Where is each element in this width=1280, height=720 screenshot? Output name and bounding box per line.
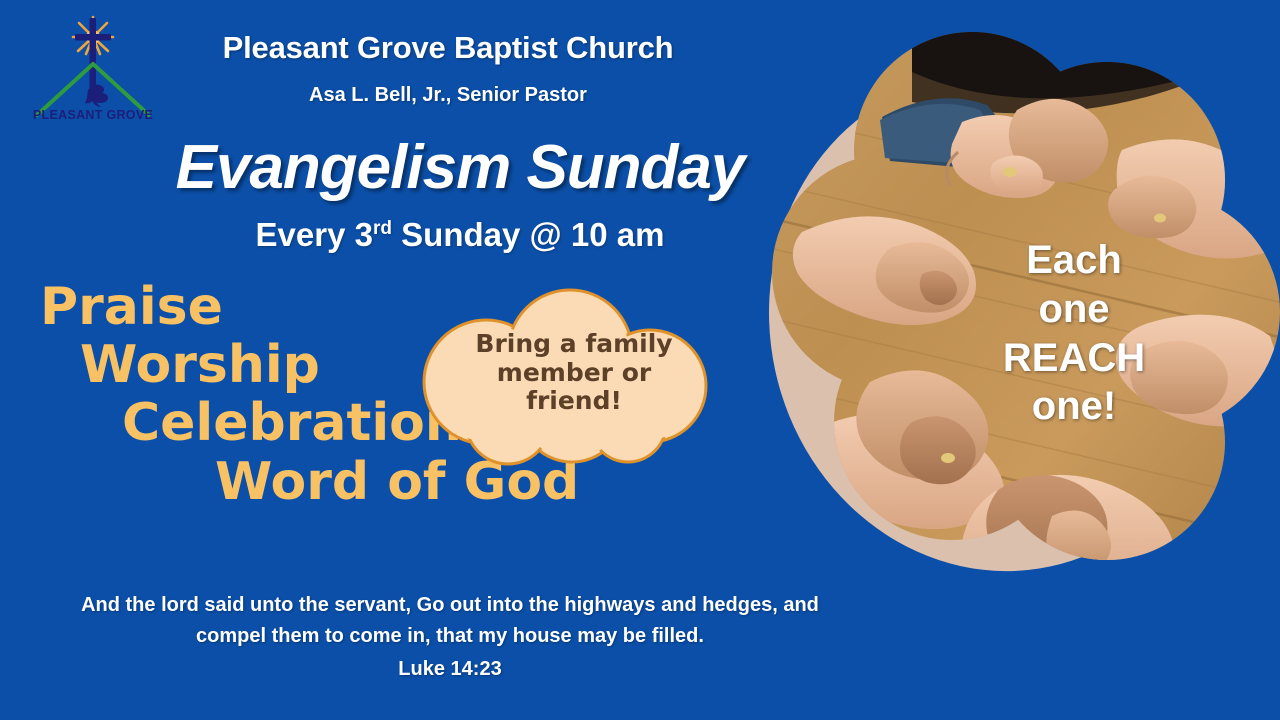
logo-caption: PLEASANT GROVE xyxy=(33,108,153,122)
scripture-line-1: And the lord said unto the servant, Go o… xyxy=(81,594,819,616)
reach-line-1: Each xyxy=(984,236,1164,285)
event-schedule: Every 3rd Sunday @ 10 am xyxy=(110,216,810,254)
bubble-line-1: Bring a family xyxy=(460,330,688,359)
scripture-reference: Luke 14:23 xyxy=(8,654,892,685)
church-name: Pleasant Grove Baptist Church xyxy=(168,30,728,66)
invite-bubble-text: Bring a family member or friend! xyxy=(460,330,688,416)
schedule-ordinal: rd xyxy=(373,218,392,239)
pastor-name: Asa L. Bell, Jr., Senior Pastor xyxy=(168,84,728,107)
event-title: Evangelism Sunday xyxy=(110,132,810,203)
scripture-block: And the lord said unto the servant, Go o… xyxy=(8,590,892,685)
reach-line-4: one! xyxy=(984,382,1164,431)
flyer-canvas: PLEASANT GROVE Pleasant Grove Baptist Ch… xyxy=(0,0,1280,720)
bubble-line-3: friend! xyxy=(460,387,688,416)
reach-line-3: REACH xyxy=(984,334,1164,383)
church-logo: PLEASANT GROVE xyxy=(22,6,164,124)
scripture-line-2: compel them to come in, that my house ma… xyxy=(196,625,704,647)
bubble-line-2: member or xyxy=(460,359,688,388)
hands-photo-composition: Each one REACH one! xyxy=(762,22,1280,602)
schedule-suffix: Sunday @ 10 am xyxy=(392,216,664,253)
reach-overlay-text: Each one REACH one! xyxy=(984,236,1164,431)
schedule-prefix: Every 3 xyxy=(256,216,373,253)
reach-line-2: one xyxy=(984,285,1164,334)
invite-speech-bubble: Bring a family member or friend! xyxy=(412,282,732,468)
dove-icon xyxy=(85,85,108,107)
